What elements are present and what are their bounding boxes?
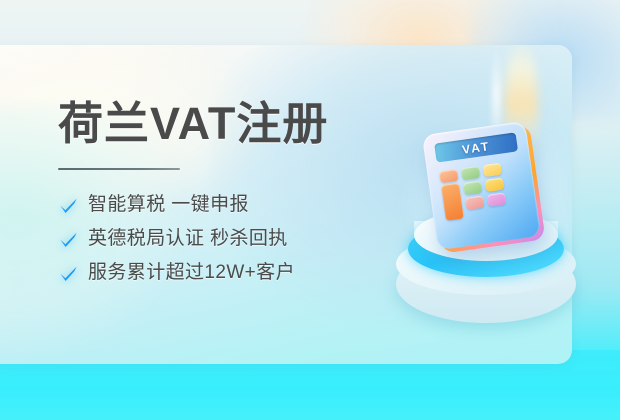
calculator-body: VAT	[422, 121, 541, 250]
calculator: VAT	[422, 120, 550, 258]
vat-registration-banner: 荷兰VAT注册 智能算税 一键申报 英德税局认证 秒杀回执	[0, 0, 620, 420]
list-item: 英德税局认证 秒杀回执	[58, 226, 388, 252]
list-item-label: 英德税局认证 秒杀回执	[88, 226, 288, 252]
key-peach	[439, 169, 458, 183]
calculator-keypad	[439, 160, 527, 236]
page-title: 荷兰VAT注册	[58, 96, 388, 152]
key-green-2	[463, 181, 482, 195]
banner-text-column: 荷兰VAT注册 智能算税 一键申报 英德税局认证 秒杀回执	[58, 96, 388, 302]
check-icon	[58, 195, 79, 216]
check-icon	[58, 229, 79, 250]
key-pink	[465, 195, 484, 209]
check-icon	[58, 263, 79, 284]
list-item-label: 智能算税 一键申报	[88, 192, 249, 218]
feature-list: 智能算税 一键申报 英德税局认证 秒杀回执 服务累计超过12W+客户	[58, 192, 388, 286]
list-item-label: 服务累计超过12W+客户	[88, 260, 295, 286]
list-item: 服务累计超过12W+客户	[58, 260, 388, 286]
title-divider	[58, 168, 180, 170]
key-orange-tall	[441, 183, 464, 221]
key-yellow	[483, 163, 502, 177]
key-green	[461, 166, 480, 180]
key-violet	[487, 192, 506, 206]
list-item: 智能算税 一键申报	[58, 192, 388, 218]
key-yellow-2	[485, 178, 504, 192]
vat-calculator-illustration: VAT	[386, 125, 586, 340]
calculator-screen-text: VAT	[461, 139, 491, 157]
